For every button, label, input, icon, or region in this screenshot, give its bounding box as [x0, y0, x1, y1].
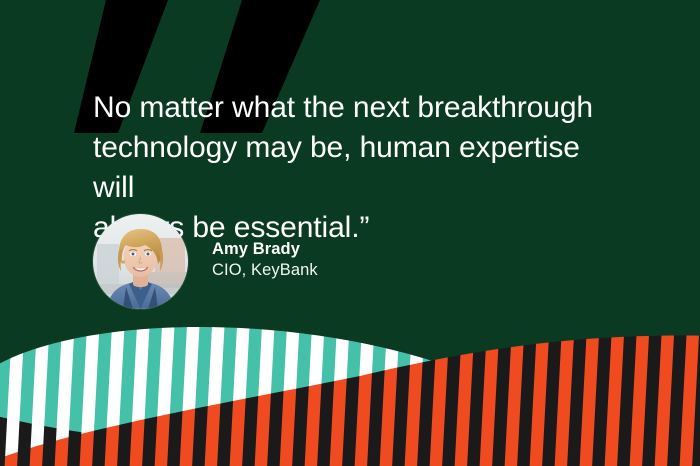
- quote-card-canvas: No matter what the next breakthrough tec…: [0, 0, 700, 466]
- attribution-name: Amy Brady: [212, 239, 318, 260]
- attribution: Amy Brady CIO, KeyBank: [93, 214, 318, 309]
- attribution-role: CIO, KeyBank: [212, 260, 318, 281]
- avatar-portrait-illustration: [93, 214, 188, 309]
- avatar: [93, 214, 188, 309]
- attribution-text: Amy Brady CIO, KeyBank: [212, 239, 318, 285]
- wave-stripe-decoration: [0, 316, 700, 466]
